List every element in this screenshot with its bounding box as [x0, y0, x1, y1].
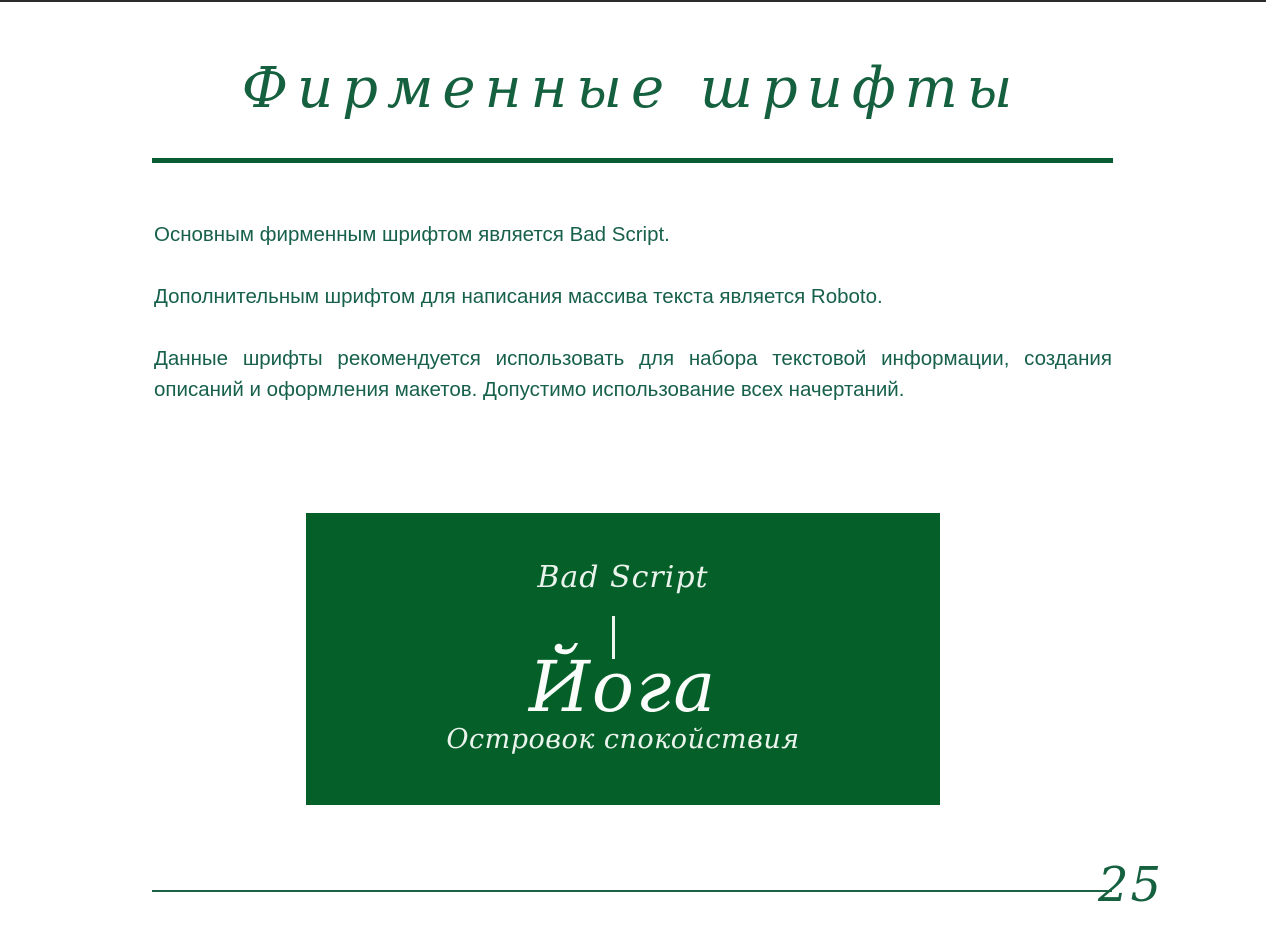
brand-preview-inner: Bad Script Йога Островок спокойствия: [306, 513, 940, 805]
slide-canvas: Фирменные шрифты Основным фирменным шриф…: [0, 0, 1266, 940]
page-title: Фирменные шрифты: [150, 52, 1113, 126]
body-content: Основным фирменным шрифтом является Bad …: [154, 219, 1112, 405]
body-paragraph-2: Дополнительным шрифтом для написания мас…: [154, 281, 1112, 312]
brand-preview-box: Bad Script Йога Островок спокойствия: [306, 513, 940, 805]
header-divider-rule: [152, 158, 1113, 163]
body-paragraph-1: Основным фирменным шрифтом является Bad …: [154, 219, 1112, 250]
brand-wordmark: Йога: [306, 646, 940, 728]
brand-tagline: Островок спокойствия: [306, 724, 940, 756]
page-number: 25: [1098, 855, 1188, 915]
body-paragraph-3: Данные шрифты рекомендуется использовать…: [154, 343, 1112, 405]
footer-divider-rule: [152, 890, 1112, 892]
brand-font-label: Bad Script: [306, 561, 940, 595]
